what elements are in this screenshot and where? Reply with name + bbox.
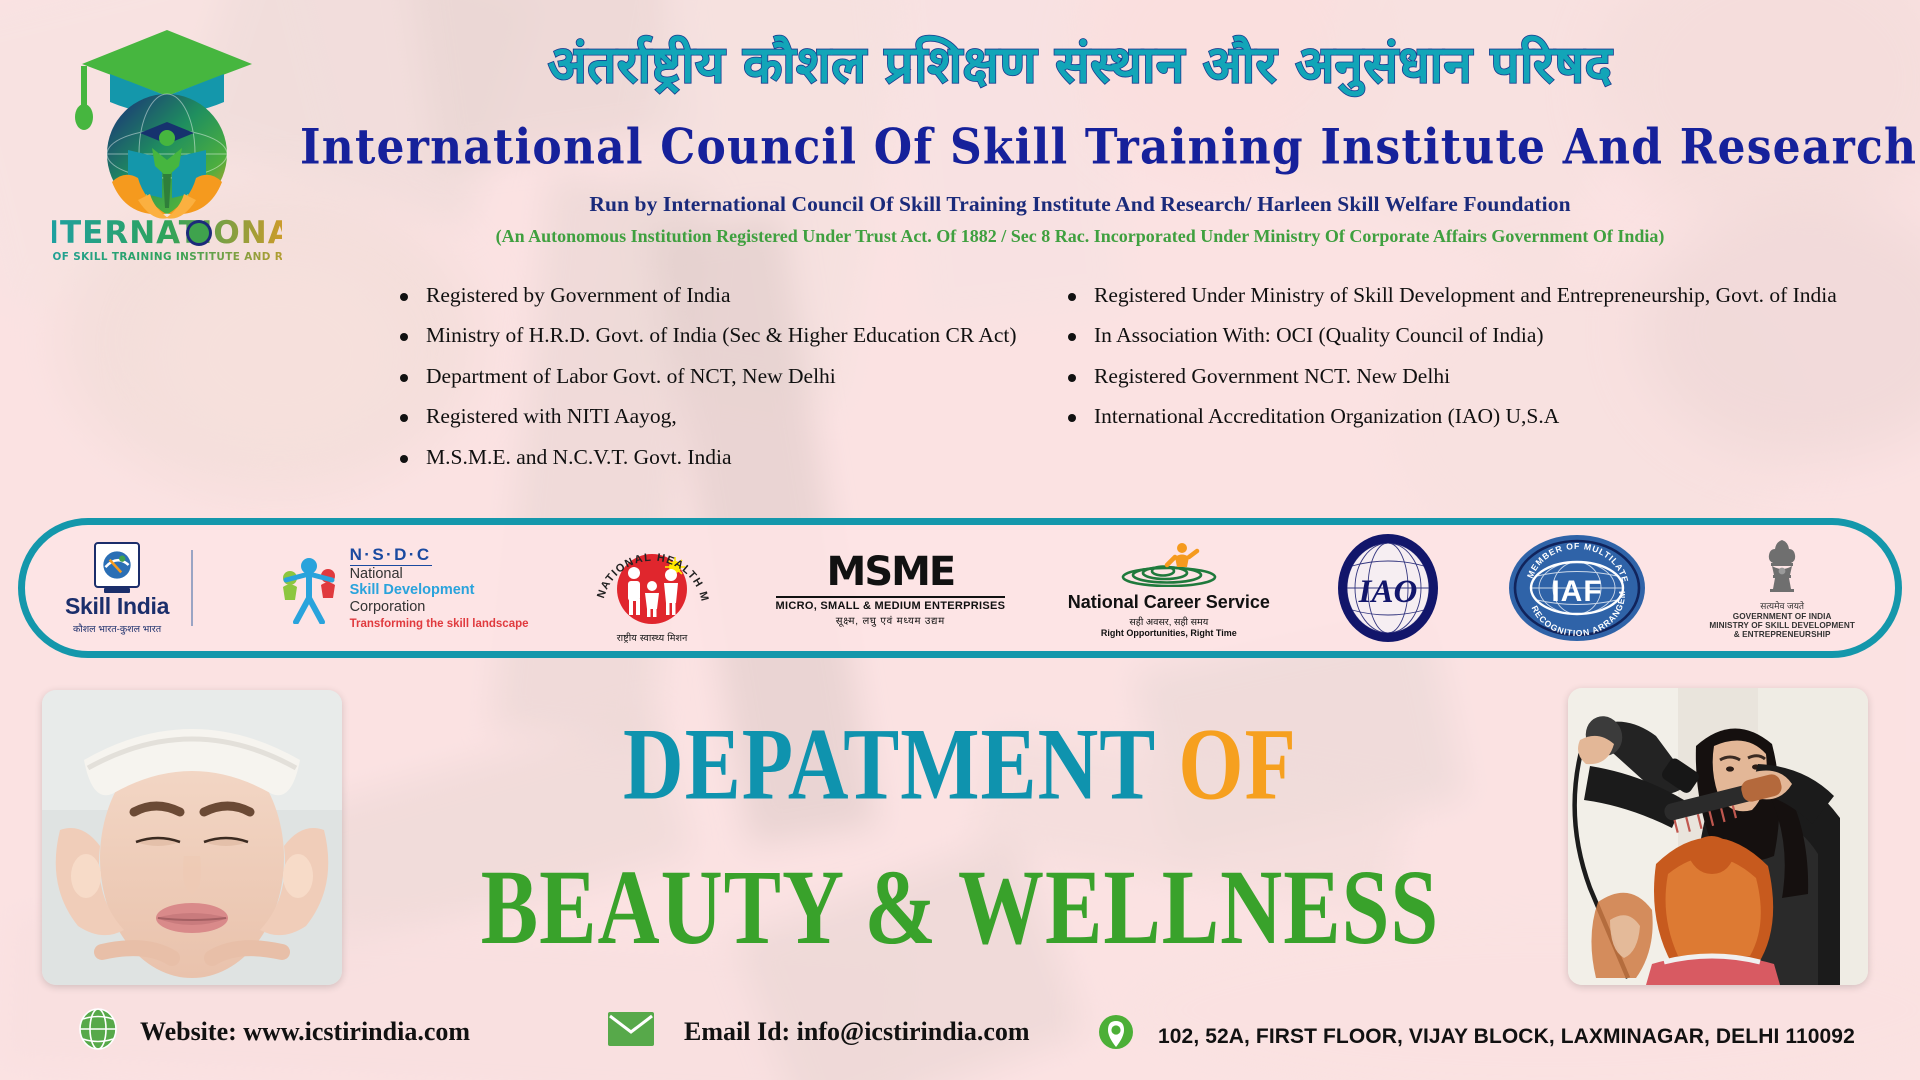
location-pin-icon [1098,1015,1134,1058]
autonomous-note: (An Autonomous Institution Registered Un… [300,226,1860,247]
ncs-line2: Right Opportunities, Right Time [1068,628,1270,638]
msme-logo: MSME MICRO, SMALL & MEDIUM ENTERPRISES स… [776,533,1006,643]
ncs-name: National Career Service [1068,592,1270,613]
list-item: Registered with NITI Aayog, [400,403,1017,430]
msme-wordmark: MSME [776,549,1006,595]
list-item: M.S.M.E. and N.C.V.T. Govt. India [400,444,1017,471]
iao-logo: IAO INTERNATIONAL ACCREDITATION ORGANIZA… [1332,533,1444,643]
ncs-line1: सही अवसर, सही समय [1068,615,1270,628]
nhm-emblem-icon: NATIONAL HEALTH MISSION राष्ट्रीय स्वास्… [591,529,713,647]
hindi-title: अंतर्राष्ट्रीय कौशल प्रशिक्षण संस्थान और… [300,38,1860,93]
bullet-icon [400,414,408,422]
bullet-icon [1068,293,1076,301]
email-contact[interactable]: Email Id: info@icstirindia.com [608,1012,1030,1051]
list-item-label: Registered Government NCT. New Delhi [1094,363,1450,390]
bullet-icon [1068,333,1076,341]
skill-india-emblem-icon [94,542,140,588]
nsdc-line1: National [350,566,529,582]
ncs-ripple-icon [1109,539,1229,587]
address-contact[interactable]: 102, 52A, FIRST FLOOR, VIJAY BLOCK, LAXM… [1098,1015,1855,1058]
list-item: Registered by Government of India [400,282,1017,309]
list-item-label: International Accreditation Organization… [1094,403,1559,430]
list-item-label: Registered Under Ministry of Skill Devel… [1094,282,1837,309]
iaf-logo: IAF MEMBER OF MULTILATERAL RECOGNITION A… [1507,533,1647,643]
facial-treatment-photo [42,690,342,985]
run-by-line: Run by International Council Of Skill Tr… [300,192,1860,217]
iaf-center-text: IAF [1551,575,1602,608]
globe-icon [78,1008,118,1055]
list-item: Department of Labor Govt. of NCT, New De… [400,363,1017,390]
government-of-india-logo: सत्यमेव जयते GOVERNMENT OF INDIA MINISTR… [1709,533,1855,643]
nsdc-people-icon [278,552,340,624]
emblem-line3: & ENTREPRENEURSHIP [1709,630,1855,639]
emblem-line1: GOVERNMENT OF INDIA [1709,612,1855,621]
nsdc-logo: N·S·D·C National Skill Development Corpo… [278,533,529,643]
envelope-icon [608,1012,654,1051]
skill-india-subtitle: कौशल भारत-कुशल भारत [65,622,169,635]
emblem-motto: सत्यमेव जयते [1709,599,1855,612]
list-item: In Association With: OCI (Quality Counci… [1068,322,1837,349]
list-item: Registered Government NCT. New Delhi [1068,363,1837,390]
bullet-icon [400,374,408,382]
ashoka-lion-capital-icon [1756,537,1808,597]
nhm-subtitle: राष्ट्रीय स्वास्थ्य मिशन [617,632,688,644]
skill-india-title: Skill India [65,593,169,620]
accreditation-logo-bar: Skill India कौशल भारत-कुशल भारत N·S·D·C … [18,518,1902,658]
divider [191,550,193,626]
bullet-icon [400,293,408,301]
header: INTERNATIONAL COUNCIL OF SKILL TRAINING … [0,0,1920,280]
iao-emblem-icon: IAO INTERNATIONAL ACCREDITATION ORGANIZA… [1332,532,1444,644]
emblem-line2: MINISTRY OF SKILL DEVELOPMENT [1709,621,1855,630]
iaf-emblem-icon: IAF MEMBER OF MULTILATERAL RECOGNITION A… [1507,533,1647,643]
list-item: International Accreditation Organization… [1068,403,1837,430]
credentials-right-column: Registered Under Ministry of Skill Devel… [1068,282,1837,444]
department-of-word: OF [1178,708,1297,821]
list-item-label: Ministry of H.R.D. Govt. of India (Sec &… [426,322,1017,349]
list-item-label: Registered with NITI Aayog, [426,403,677,430]
nsdc-abbr: N·S·D·C [350,545,432,566]
bullet-icon [400,455,408,463]
msme-line1: MICRO, SMALL & MEDIUM ENTERPRISES [776,596,1006,612]
footer: Website: www.icstirindia.com Email Id: i… [0,1008,1920,1072]
list-item: Registered Under Ministry of Skill Devel… [1068,282,1837,309]
bullet-icon [400,333,408,341]
list-item-label: Registered by Government of India [426,282,731,309]
logo-text-sub: COUNCIL OF SKILL TRAINING INSTITUTE AND … [52,251,282,263]
nsdc-tagline: Transforming the skill landscape [350,618,529,631]
logo-text-main: INTERNATIONAL [52,215,282,251]
icstir-logo: INTERNATIONAL COUNCIL OF SKILL TRAINING … [52,22,282,267]
department-subject: BEAUTY & WELLNESS [420,845,1500,969]
website-contact[interactable]: Website: www.icstirindia.com [78,1008,470,1055]
bullet-icon [1068,374,1076,382]
nsdc-line2: Skill Development [350,582,529,598]
msme-line2: सूक्ष्म, लघु एवं मध्यम उद्यम [776,613,1006,627]
list-item-label: Department of Labor Govt. of NCT, New De… [426,363,836,390]
website-label: Website: www.icstirindia.com [140,1017,470,1047]
skill-india-logo: Skill India कौशल भारत-कुशल भारत [65,533,215,643]
list-item-label: In Association With: OCI (Quality Counci… [1094,322,1544,349]
credentials-left-column: Registered by Government of India Minist… [400,282,1017,484]
email-label: Email Id: info@icstirindia.com [684,1017,1030,1047]
iao-center-text: IAO [1358,574,1418,610]
department-title: DEPATMENT OF [420,706,1500,824]
list-item-label: M.S.M.E. and N.C.V.T. Govt. India [426,444,732,471]
bullet-icon [1068,414,1076,422]
national-career-service-logo: National Career Service सही अवसर, सही सम… [1068,533,1270,643]
department-word: DEPATMENT [623,708,1156,821]
hair-styling-photo [1568,688,1868,985]
address-label: 102, 52A, FIRST FLOOR, VIJAY BLOCK, LAXM… [1158,1025,1855,1049]
list-item: Ministry of H.R.D. Govt. of India (Sec &… [400,322,1017,349]
nsdc-line3: Corporation [350,599,529,615]
national-health-mission-logo: NATIONAL HEALTH MISSION राष्ट्रीय स्वास्… [591,533,713,643]
english-title: International Council Of Skill Training … [300,119,1860,175]
credentials-section: Registered by Government of India Minist… [0,282,1920,462]
